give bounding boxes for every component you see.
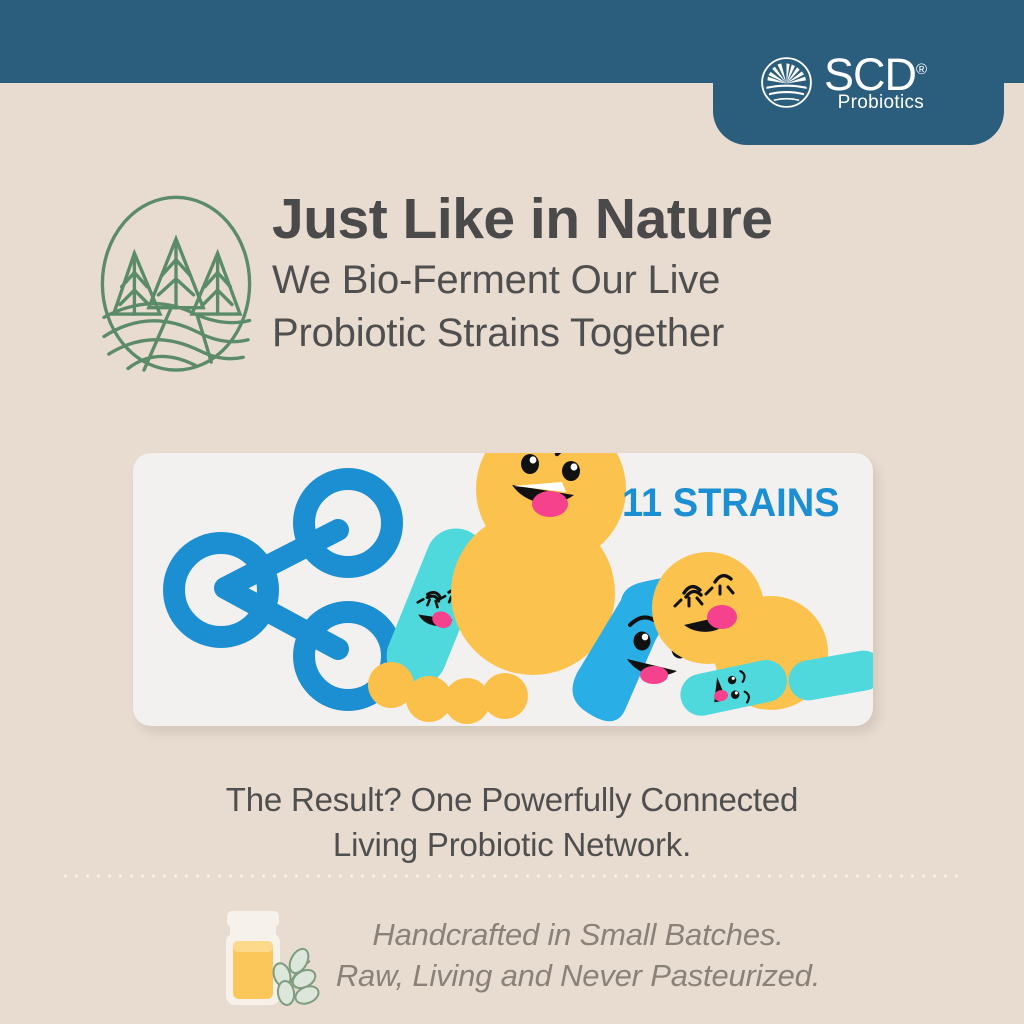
headline-subtitle-line2: Probiotic Strains Together	[272, 307, 772, 360]
footer-section: Handcrafted in Small Batches. Raw, Livin…	[0, 900, 1024, 1010]
strains-count-label: 11 STRAINS	[622, 481, 840, 526]
network-share-icon	[174, 479, 392, 700]
brand-logo[interactable]: SCD® Probiotics	[760, 52, 926, 112]
registered-mark: ®	[916, 61, 926, 78]
yellow-dot-chain-microbe	[368, 662, 528, 724]
headline-subtitle-line1: We Bio-Ferment Our Live	[272, 254, 772, 307]
brand-wordmark: SCD® Probiotics	[824, 52, 926, 112]
headline-section: Just Like in Nature We Bio-Ferment Our L…	[96, 188, 926, 388]
footer-text-block: Handcrafted in Small Batches. Raw, Livin…	[336, 914, 820, 996]
poster-canvas: SCD® Probiotics	[0, 0, 1024, 1024]
footer-line-1: Handcrafted in Small Batches.	[336, 914, 820, 955]
trees-field-circle-icon	[96, 192, 256, 377]
headline-text-block: Just Like in Nature We Bio-Ferment Our L…	[272, 188, 772, 359]
dotted-divider	[60, 874, 964, 878]
sun-rays-circle-icon	[760, 56, 813, 109]
footer-line-2: Raw, Living and Never Pasteurized.	[336, 955, 820, 996]
result-line-1: The Result? One Powerfully Connected	[0, 778, 1024, 823]
result-text: The Result? One Powerfully Connected Liv…	[0, 778, 1024, 867]
fermentation-jar-icon	[204, 905, 324, 1009]
brand-subtitle: Probiotics	[824, 93, 926, 112]
page-title: Just Like in Nature	[272, 190, 772, 250]
result-line-2: Living Probiotic Network.	[0, 823, 1024, 868]
